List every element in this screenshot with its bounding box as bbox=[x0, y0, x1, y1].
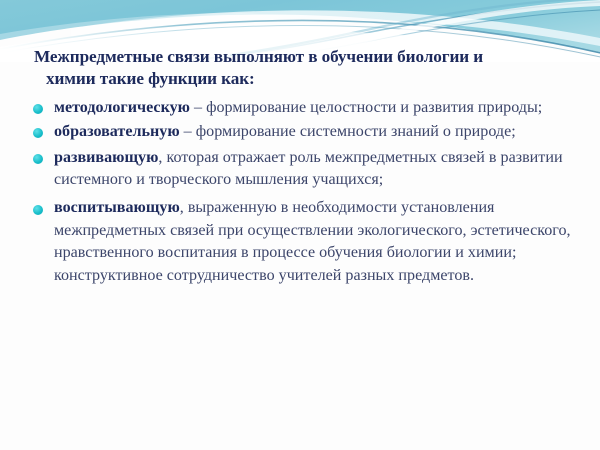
slide-content: Межпредметные связи выполняют в обучении… bbox=[0, 0, 600, 450]
title-line-1: Межпредметные связи выполняют в обучении… bbox=[34, 47, 483, 66]
bullet-lead-term: методологическую bbox=[54, 99, 190, 116]
presentation-slide: Межпредметные связи выполняют в обучении… bbox=[0, 0, 600, 450]
bullet-lead-term: воспитывающую bbox=[54, 199, 180, 216]
bullet-item-methodological: методологическую – формирование целостно… bbox=[26, 97, 578, 119]
functions-bullet-list: методологическую – формирование целостно… bbox=[26, 97, 578, 288]
filled-circle-bullet-icon bbox=[33, 154, 43, 164]
bullet-body-text: – формирование системности знаний о прир… bbox=[180, 123, 516, 140]
filled-circle-bullet-icon bbox=[33, 104, 43, 114]
title-line-2: химии такие функции как: bbox=[34, 68, 578, 90]
bullet-lead-term: развивающую bbox=[54, 149, 158, 166]
bullet-lead-term: образовательную bbox=[54, 123, 180, 140]
bullet-item-upbringing: воспитывающую, выраженную в необходимост… bbox=[26, 197, 578, 287]
slide-title: Межпредметные связи выполняют в обучении… bbox=[26, 46, 578, 91]
bullet-item-developmental: развивающую, которая отражает роль межпр… bbox=[26, 147, 578, 190]
filled-circle-bullet-icon bbox=[33, 128, 43, 138]
bullet-body-text: – формирование целостности и развития пр… bbox=[190, 99, 542, 116]
bullet-item-educational: образовательную – формирование системнос… bbox=[26, 121, 578, 143]
filled-circle-bullet-icon bbox=[33, 205, 43, 215]
